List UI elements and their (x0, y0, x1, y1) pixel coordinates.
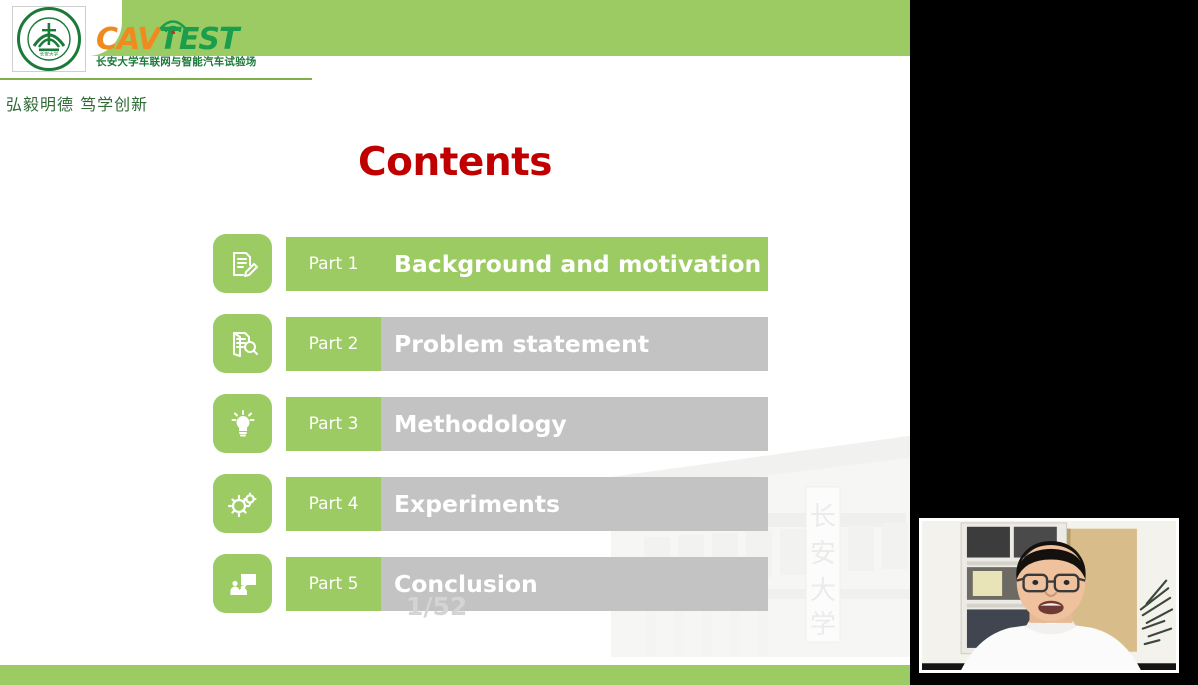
part-label: Part 5 (286, 557, 381, 611)
wordmark-cav: CAV (96, 22, 159, 57)
slide-footer-band (0, 665, 910, 685)
contents-bar: Part 4 Experiments (286, 477, 768, 531)
page-title: Contents (0, 140, 910, 185)
presentation-people-icon (213, 554, 272, 613)
part-title: Background and motivation (394, 237, 761, 291)
part-label: Part 3 (286, 397, 381, 451)
avatar (922, 521, 1176, 670)
wordmark-subtitle: 长安大学车联网与智能汽车试验场 (96, 54, 276, 69)
svg-text:学: 学 (810, 610, 836, 640)
document-search-icon (213, 314, 272, 373)
lightbulb-icon (213, 394, 272, 453)
svg-text:长: 长 (810, 502, 836, 532)
part-title: Problem statement (394, 317, 649, 371)
contents-bar: Part 3 Methodology (286, 397, 768, 451)
svg-text:长安大学: 长安大学 (40, 51, 59, 58)
contents-bar: Part 5 Conclusion (286, 557, 768, 611)
part-label: Part 4 (286, 477, 381, 531)
university-motto: 弘毅明德 笃学创新 (6, 91, 148, 115)
wifi-signal-icon (158, 16, 188, 34)
contents-bar: Part 2 Problem statement (286, 317, 768, 371)
slide-page-number: 1/52 (406, 592, 467, 621)
header-rule (0, 78, 312, 80)
svg-text:大: 大 (810, 576, 836, 606)
part-label: Part 2 (286, 317, 381, 371)
presentation-slide: 长安 大学 长安大学 (0, 0, 910, 685)
part-title: Methodology (394, 397, 567, 451)
svg-text:安: 安 (810, 539, 836, 569)
cavtest-logo: CAVTEST 长安大学车联网与智能汽车试验场 (96, 25, 276, 77)
university-seal-icon: 长安大学 (12, 6, 86, 72)
document-pen-icon (213, 234, 272, 293)
gears-icon (213, 474, 272, 533)
presenter-video-tile[interactable] (919, 518, 1179, 673)
part-title: Experiments (394, 477, 560, 531)
screen-share-stage: 长安 大学 长安大学 (0, 0, 1198, 685)
part-label: Part 1 (286, 237, 381, 291)
contents-bar: Part 1 Background and motivation (286, 237, 768, 291)
campus-watermark: 长安 大学 (516, 417, 910, 657)
